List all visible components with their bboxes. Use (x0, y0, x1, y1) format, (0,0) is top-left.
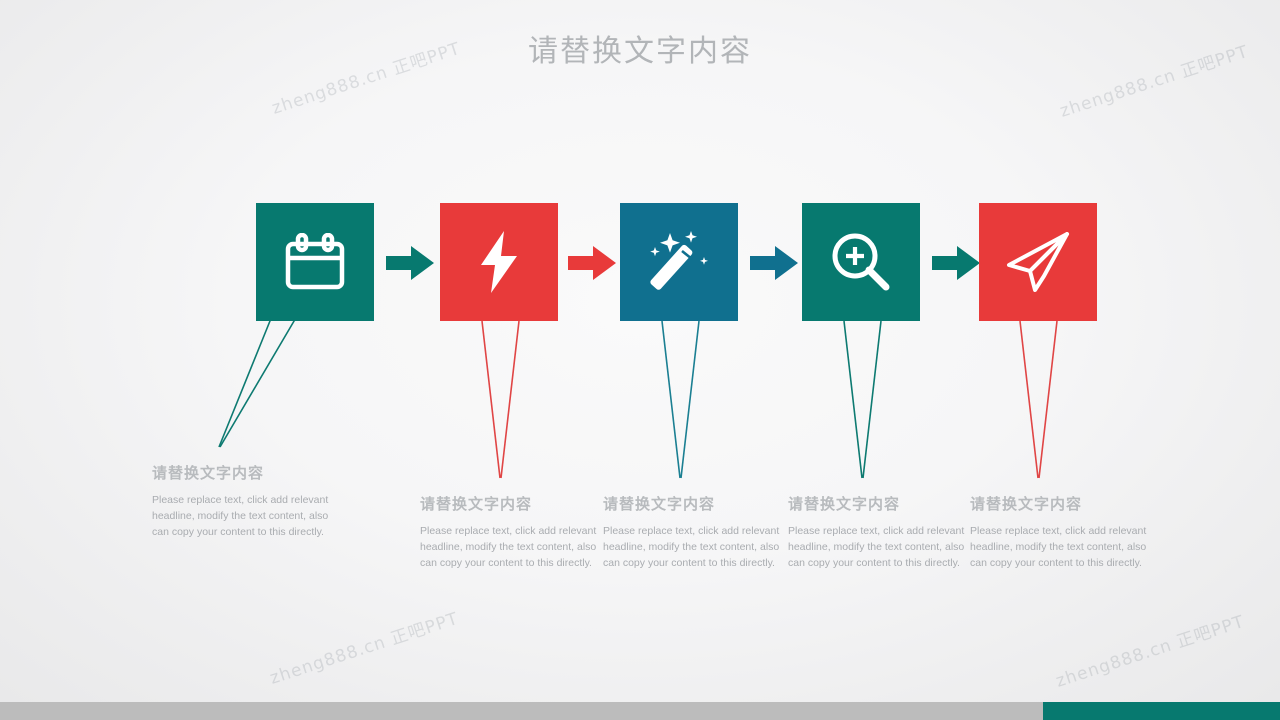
step-box-2[interactable] (440, 203, 558, 321)
connector-3 (662, 321, 699, 478)
watermark: zheng888.cn 正吧PPT (1052, 607, 1247, 692)
arrow-1 (386, 246, 434, 280)
step-box-3[interactable] (620, 203, 738, 321)
connector-4 (844, 321, 881, 478)
step-box-1[interactable] (256, 203, 374, 321)
arrow-2 (568, 246, 616, 280)
bottom-bar-accent (1043, 702, 1280, 720)
caption-body: Please replace text, click add relevant … (603, 523, 785, 571)
caption-3: 请替换文字内容 Please replace text, click add r… (603, 493, 785, 571)
step-box-4[interactable] (802, 203, 920, 321)
connector-1 (219, 316, 297, 447)
process-row (0, 203, 1280, 323)
slide-canvas: zheng888.cn 正吧PPT zheng888.cn 正吧PPT zhen… (0, 0, 1280, 720)
watermark: zheng888.cn 正吧PPT (266, 604, 461, 689)
caption-heading: 请替换文字内容 (152, 462, 334, 483)
step-box-5[interactable] (979, 203, 1097, 321)
caption-heading: 请替换文字内容 (420, 493, 602, 514)
caption-4: 请替换文字内容 Please replace text, click add r… (788, 493, 970, 571)
caption-heading: 请替换文字内容 (603, 493, 785, 514)
connector-2 (482, 321, 519, 478)
caption-body: Please replace text, click add relevant … (970, 523, 1152, 571)
arrow-3 (750, 246, 798, 280)
page-title: 请替换文字内容 (0, 26, 1280, 70)
caption-1: 请替换文字内容 Please replace text, click add r… (152, 462, 334, 540)
connector-lines (0, 0, 1280, 720)
caption-5: 请替换文字内容 Please replace text, click add r… (970, 493, 1152, 571)
caption-body: Please replace text, click add relevant … (420, 523, 602, 571)
caption-2: 请替换文字内容 Please replace text, click add r… (420, 493, 602, 571)
arrow-4 (932, 246, 980, 280)
caption-heading: 请替换文字内容 (970, 493, 1152, 514)
caption-body: Please replace text, click add relevant … (152, 492, 334, 540)
caption-body: Please replace text, click add relevant … (788, 523, 970, 571)
connector-5 (1020, 321, 1057, 478)
caption-heading: 请替换文字内容 (788, 493, 970, 514)
